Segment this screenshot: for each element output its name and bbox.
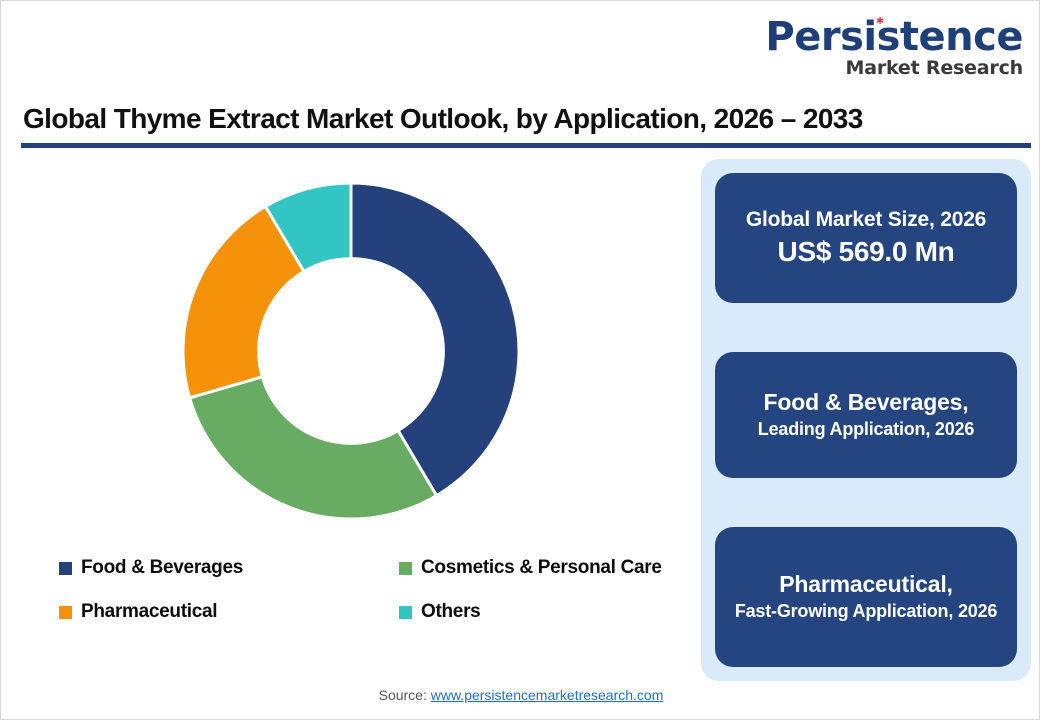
logo-brand-label: Persistence <box>765 14 1023 60</box>
legend-label: Pharmaceutical <box>81 601 217 623</box>
donut-chart <box>21 161 681 561</box>
donut-slices <box>183 183 519 519</box>
donut-slice <box>190 377 437 519</box>
legend-item-cosmetics-personal-care: Cosmetics & Personal Care <box>399 557 679 579</box>
fastest-growing-label: Fast-Growing Application, 2026 <box>735 600 997 623</box>
fastest-growing-value: Pharmaceutical, <box>779 570 952 600</box>
logo-brand-text: Persistence * <box>765 17 1023 57</box>
company-logo: Persistence * Market Research <box>765 17 1023 78</box>
stat-card-leading-application: Food & Beverages, Leading Application, 2… <box>715 352 1017 478</box>
legend-swatch-icon <box>59 606 72 619</box>
chart-legend: Food & Beverages Cosmetics & Personal Ca… <box>59 557 679 623</box>
legend-item-food-beverages: Food & Beverages <box>59 557 399 579</box>
legend-label: Food & Beverages <box>81 557 243 579</box>
market-size-value: US$ 569.0 Mn <box>778 234 955 269</box>
page-title: Global Thyme Extract Market Outlook, by … <box>23 103 1013 135</box>
source-link[interactable]: www.persistencemarketresearch.com <box>431 687 664 703</box>
logo-tagline: Market Research <box>765 59 1023 78</box>
stat-card-fastest-growing-application: Pharmaceutical, Fast-Growing Application… <box>715 527 1017 667</box>
legend-label: Others <box>421 601 480 623</box>
logo-asterisk-icon: * <box>872 18 883 29</box>
legend-swatch-icon <box>399 606 412 619</box>
legend-swatch-icon <box>59 562 72 575</box>
title-divider <box>21 143 1031 148</box>
stat-card-market-size: Global Market Size, 2026 US$ 569.0 Mn <box>715 173 1017 303</box>
source-line: Source: www.persistencemarketresearch.co… <box>1 687 1040 703</box>
legend-label: Cosmetics & Personal Care <box>421 557 662 579</box>
highlights-panel: Global Market Size, 2026 US$ 569.0 Mn Fo… <box>701 159 1031 681</box>
legend-item-others: Others <box>399 601 679 623</box>
leading-application-value: Food & Beverages, <box>764 388 969 418</box>
infographic-frame: Persistence * Market Research Global Thy… <box>0 0 1040 720</box>
market-size-label: Global Market Size, 2026 <box>746 207 986 233</box>
source-prefix: Source: <box>379 687 431 703</box>
donut-chart-svg <box>161 161 541 541</box>
legend-swatch-icon <box>399 562 412 575</box>
legend-item-pharmaceutical: Pharmaceutical <box>59 601 399 623</box>
leading-application-label: Leading Application, 2026 <box>758 418 974 441</box>
